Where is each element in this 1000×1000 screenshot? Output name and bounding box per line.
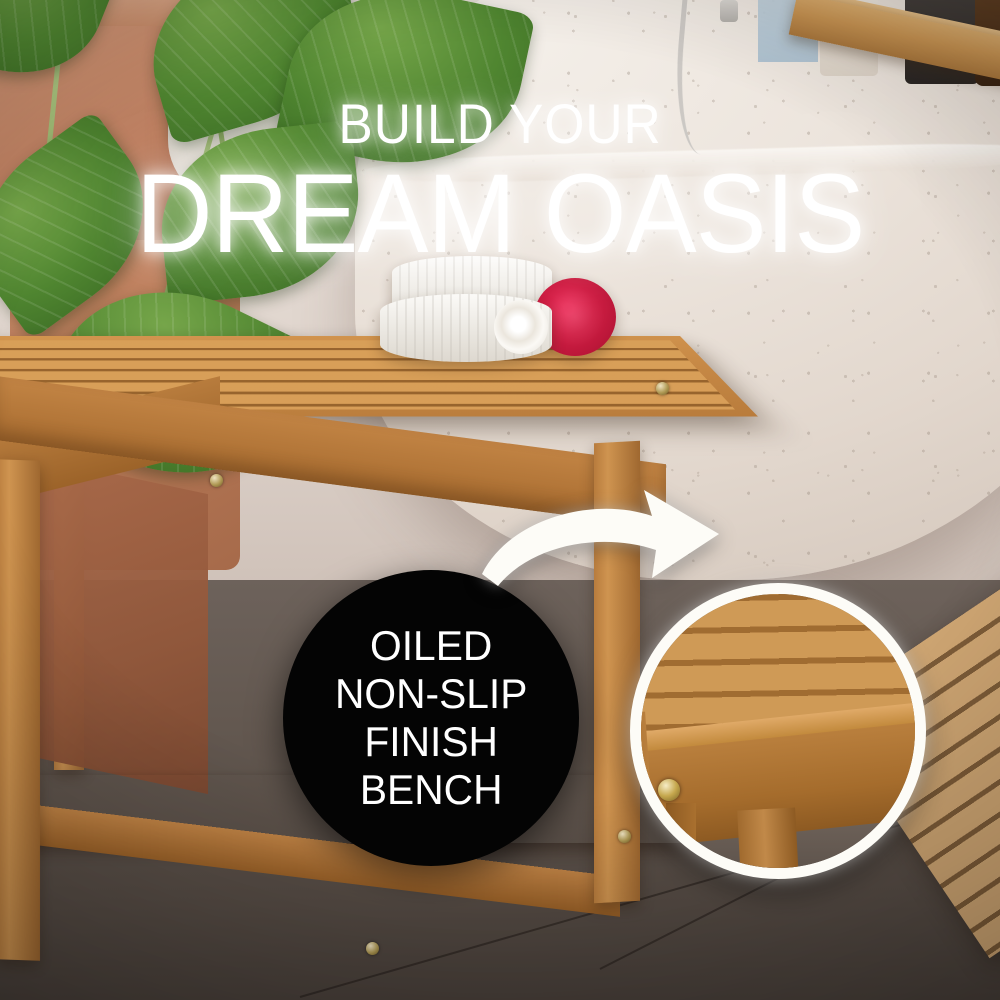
brass-screw	[366, 942, 379, 955]
badge-line-2: NON-SLIP	[335, 670, 527, 718]
brass-screw	[656, 382, 669, 395]
curved-arrow-icon	[476, 482, 736, 602]
towel-roll-swirl	[494, 300, 548, 354]
bench-leg-front-left	[0, 459, 40, 961]
inset-bench-leg-back	[666, 803, 696, 879]
inset-brass-screw	[658, 779, 680, 801]
badge-line-3: FINISH	[335, 718, 527, 766]
bench-side-panel	[28, 456, 208, 794]
inset-bench-leg	[737, 808, 801, 879]
zoom-detail-photo	[630, 583, 926, 879]
brass-screw	[210, 474, 223, 487]
feature-badge: OILED NON-SLIP FINISH BENCH	[283, 570, 579, 866]
feature-badge-text: OILED NON-SLIP FINISH BENCH	[335, 622, 527, 814]
badge-line-1: OILED	[335, 622, 527, 670]
zoom-detail-inset	[630, 583, 926, 879]
ad-canvas: BUILD YOUR DREAM OASIS OILED NON-SLIP FI…	[0, 0, 1000, 1000]
brass-screw	[618, 830, 631, 843]
shower-wall-mount	[720, 0, 738, 22]
badge-line-4: BENCH	[335, 766, 527, 814]
